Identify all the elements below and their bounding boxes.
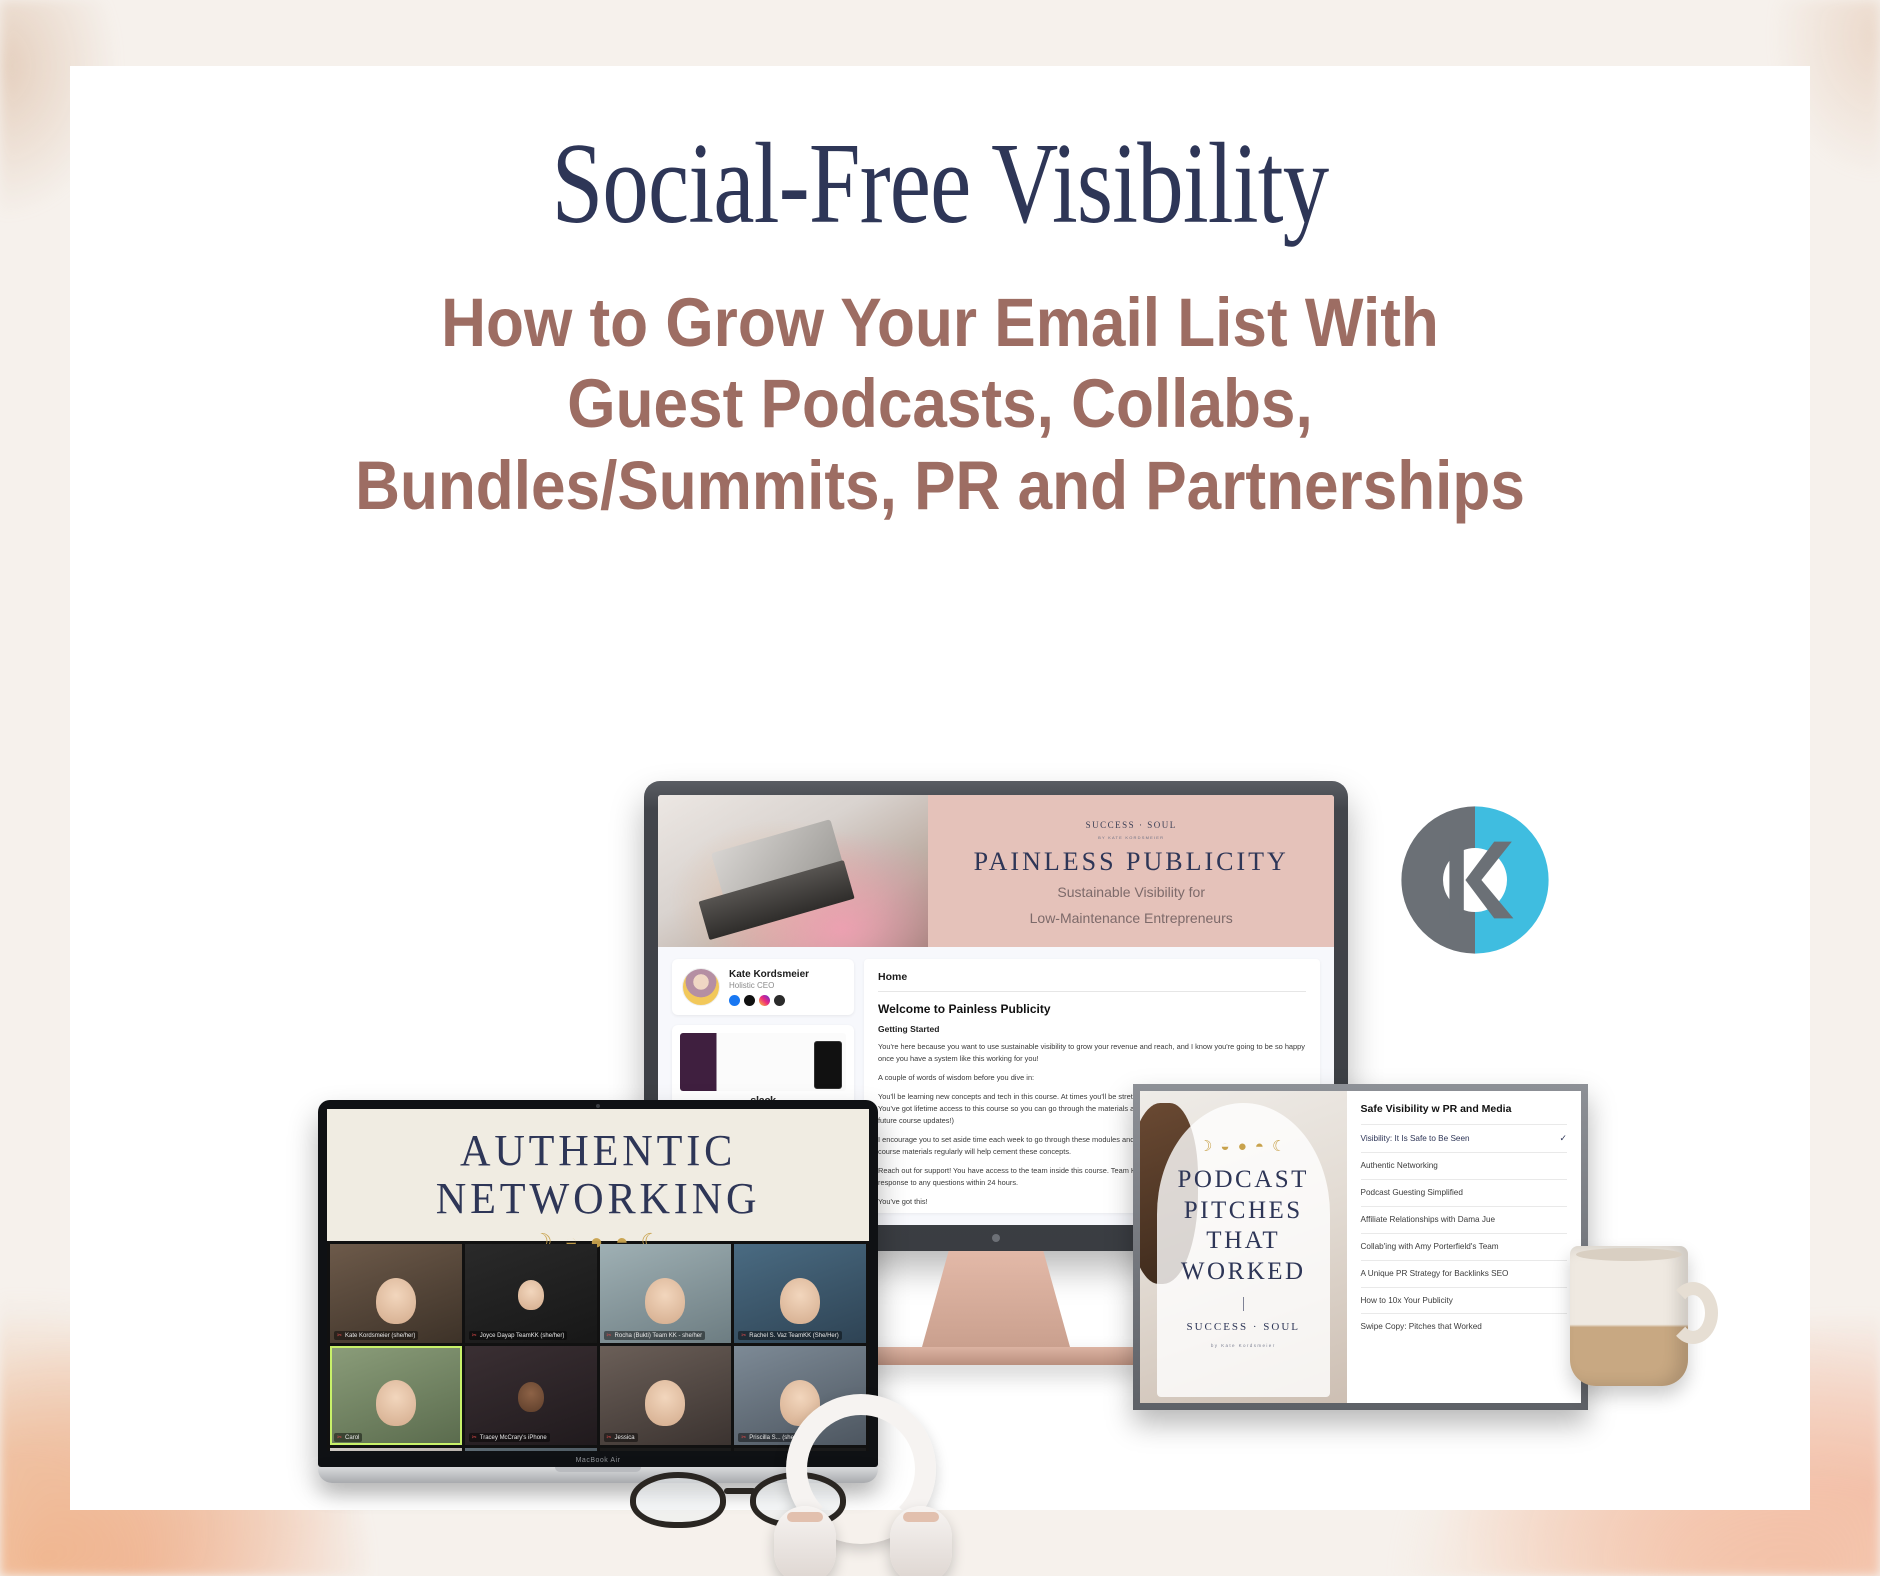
participant-name: Kate Kordsmeier (she/her) xyxy=(334,1331,418,1340)
mug-handle xyxy=(1668,1282,1718,1344)
participant-name: Rachel S. Vaz TeamKK (She/Her) xyxy=(738,1331,842,1340)
lesson-label: How to 10x Your Publicity xyxy=(1361,1295,1453,1307)
cover-arch: ☽ ◒ ● ◓ ☾ PODCAST PITCHES THAT WORKED SU… xyxy=(1157,1103,1330,1396)
module-lesson-list: Safe Visibility w PR and Media Visibilit… xyxy=(1347,1091,1582,1403)
instructor-name: Kate Kordsmeier xyxy=(729,969,809,980)
hero-subtitle-line-1: Sustainable Visibility for xyxy=(1057,882,1205,903)
participant-name: Rocha (Bukti) Team KK - she/her xyxy=(604,1331,706,1340)
hero-text: SUCCESS · SOUL by Kate Kordsmeier PAINLE… xyxy=(928,795,1334,947)
content-paragraph: A couple of words of wisdom before you d… xyxy=(878,1072,1306,1084)
divider xyxy=(1243,1297,1244,1311)
book-spread: ☽ ◒ ● ◓ ☾ PODCAST PITCHES THAT WORKED SU… xyxy=(1140,1091,1581,1403)
zoom-tile[interactable]: Kate Kordsmeier (she/her) xyxy=(330,1244,462,1343)
content-heading: Welcome to Painless Publicity xyxy=(878,1002,1306,1016)
content-subheading: Getting Started xyxy=(878,1024,1306,1034)
cover-title-line-2: PITCHES xyxy=(1178,1196,1309,1227)
zoom-tile[interactable]: Olivia Blase - Te... xyxy=(600,1448,732,1451)
zoom-tile[interactable]: Tracey McCrary's iPhone xyxy=(465,1346,597,1445)
lesson-label: Podcast Guesting Simplified xyxy=(1361,1187,1463,1199)
instructor-profile-card[interactable]: Kate Kordsmeier Holistic CEO xyxy=(672,959,854,1015)
slack-screenshot xyxy=(680,1033,846,1091)
lesson-item[interactable]: Visibility: It Is Safe to Be Seen ✓ xyxy=(1361,1124,1568,1152)
zoom-tile[interactable]: Rachel S. Vaz TeamKK (She/Her) xyxy=(734,1244,866,1343)
lesson-item[interactable]: Swipe Copy: Pitches that Worked xyxy=(1361,1313,1568,1340)
cover-title-line-4: WORKED xyxy=(1178,1257,1309,1288)
headphone-cup-left xyxy=(774,1506,836,1576)
hero-title: PAINLESS PUBLICITY xyxy=(974,847,1289,877)
lesson-label: Collab'ing with Amy Porterfield's Team xyxy=(1361,1241,1499,1253)
zoom-tile[interactable] xyxy=(465,1448,597,1451)
lesson-item[interactable]: Podcast Guesting Simplified xyxy=(1361,1179,1568,1206)
lesson-label: Visibility: It Is Safe to Be Seen xyxy=(1361,1133,1470,1145)
book-frame: ☽ ◒ ● ◓ ☾ PODCAST PITCHES THAT WORKED SU… xyxy=(1133,1084,1588,1410)
content-paragraph: You're here because you want to use sust… xyxy=(878,1041,1306,1065)
workbook-cover: ☽ ◒ ● ◓ ☾ PODCAST PITCHES THAT WORKED SU… xyxy=(1140,1091,1347,1403)
subtitle-line-3: Bundles/Summits, PR and Partnerships xyxy=(189,445,1690,526)
kk-monogram-logo xyxy=(1395,800,1555,960)
moon-phases-icon: ☽ ◒ ● ◓ ☾ xyxy=(1199,1137,1288,1155)
zoom-tile[interactable]: Joyce Dayap TeamKK (she/her) xyxy=(465,1244,597,1343)
check-icon: ✓ xyxy=(1559,1132,1567,1145)
participant-name: Tracey McCrary's iPhone xyxy=(469,1433,550,1442)
lesson-item[interactable]: Authentic Networking xyxy=(1361,1152,1568,1179)
module-heading: Safe Visibility w PR and Media xyxy=(1361,1103,1568,1124)
ceramic-mug xyxy=(1570,1246,1720,1386)
webinar-title-line-1: AUTHENTIC xyxy=(436,1127,761,1175)
participant-name: Jessica xyxy=(604,1433,638,1442)
open-book-mockup: ☽ ◒ ● ◓ ☾ PODCAST PITCHES THAT WORKED SU… xyxy=(1133,1084,1588,1410)
subtitle-line-1: How to Grow Your Email List With xyxy=(189,282,1690,363)
webinar-title-banner: AUTHENTIC NETWORKING ☽ ◒ ● ◓ ☾ xyxy=(327,1109,869,1241)
brand-logo: SUCCESS · SOUL xyxy=(1086,820,1177,830)
laptop-brand-label: MacBook Air xyxy=(576,1457,621,1464)
zoom-tile[interactable]: Jessica xyxy=(600,1346,732,1445)
page-subtitle: How to Grow Your Email List With Guest P… xyxy=(157,282,1723,526)
cover-title-line-1: PODCAST xyxy=(1178,1165,1309,1196)
email-icon[interactable] xyxy=(774,995,785,1006)
instructor-role: Holistic CEO xyxy=(729,981,809,990)
participant-name: Carol xyxy=(334,1433,362,1442)
course-hero-banner: SUCCESS · SOUL by Kate Kordsmeier PAINLE… xyxy=(658,795,1334,947)
lesson-item[interactable]: How to 10x Your Publicity xyxy=(1361,1287,1568,1314)
cover-brand-tagline: by Kate Kordsmeier xyxy=(1211,1343,1276,1348)
avatar xyxy=(682,968,720,1006)
breadcrumb-home[interactable]: Home xyxy=(878,971,1306,992)
header-block: Social-Free Visibility How to Grow Your … xyxy=(70,126,1810,526)
x-twitter-icon[interactable] xyxy=(744,995,755,1006)
page-title: Social-Free Visibility xyxy=(244,126,1636,242)
zoom-tile[interactable] xyxy=(330,1448,462,1451)
monitor-stand xyxy=(922,1251,1070,1347)
lesson-item[interactable]: Collab'ing with Amy Porterfield's Team xyxy=(1361,1233,1568,1260)
subtitle-line-2: Guest Podcasts, Collabs, xyxy=(189,363,1690,444)
hero-photo xyxy=(658,795,928,947)
lesson-item[interactable]: A Unique PR Strategy for Backlinks SEO xyxy=(1361,1260,1568,1287)
lesson-label: A Unique PR Strategy for Backlinks SEO xyxy=(1361,1268,1509,1280)
cover-title: PODCAST PITCHES THAT WORKED xyxy=(1178,1165,1309,1287)
cover-title-line-3: THAT xyxy=(1178,1226,1309,1257)
lesson-label: Affiliate Relationships with Dama Jue xyxy=(1361,1214,1496,1226)
hero-subtitle-line-2: Low-Maintenance Entrepreneurs xyxy=(1030,908,1233,929)
headphone-cup-right xyxy=(890,1506,952,1576)
zoom-tile[interactable]: Carol xyxy=(330,1346,462,1445)
cover-brand: SUCCESS · SOUL xyxy=(1186,1321,1300,1333)
social-links xyxy=(729,995,809,1006)
glasses-lens-left xyxy=(630,1472,726,1528)
lesson-item[interactable]: Affiliate Relationships with Dama Jue xyxy=(1361,1206,1568,1233)
webinar-title-line-2: NETWORKING xyxy=(436,1175,761,1223)
lesson-label: Swipe Copy: Pitches that Worked xyxy=(1361,1321,1482,1333)
facebook-icon[interactable] xyxy=(729,995,740,1006)
brand-tagline: by Kate Kordsmeier xyxy=(1098,835,1164,840)
zoom-tile[interactable]: Rocha (Bukti) Team KK - she/her xyxy=(600,1244,732,1343)
webinar-title: AUTHENTIC NETWORKING xyxy=(436,1127,761,1222)
over-ear-headphones xyxy=(770,1394,955,1576)
participant-name: Joyce Dayap TeamKK (she/her) xyxy=(469,1331,568,1340)
content-card: Social-Free Visibility How to Grow Your … xyxy=(70,66,1810,1510)
instagram-icon[interactable] xyxy=(759,995,770,1006)
device-mockup-stage: SUCCESS · SOUL by Kate Kordsmeier PAINLE… xyxy=(70,766,1810,1556)
lesson-label: Authentic Networking xyxy=(1361,1160,1438,1172)
monitor-foot xyxy=(846,1347,1146,1365)
